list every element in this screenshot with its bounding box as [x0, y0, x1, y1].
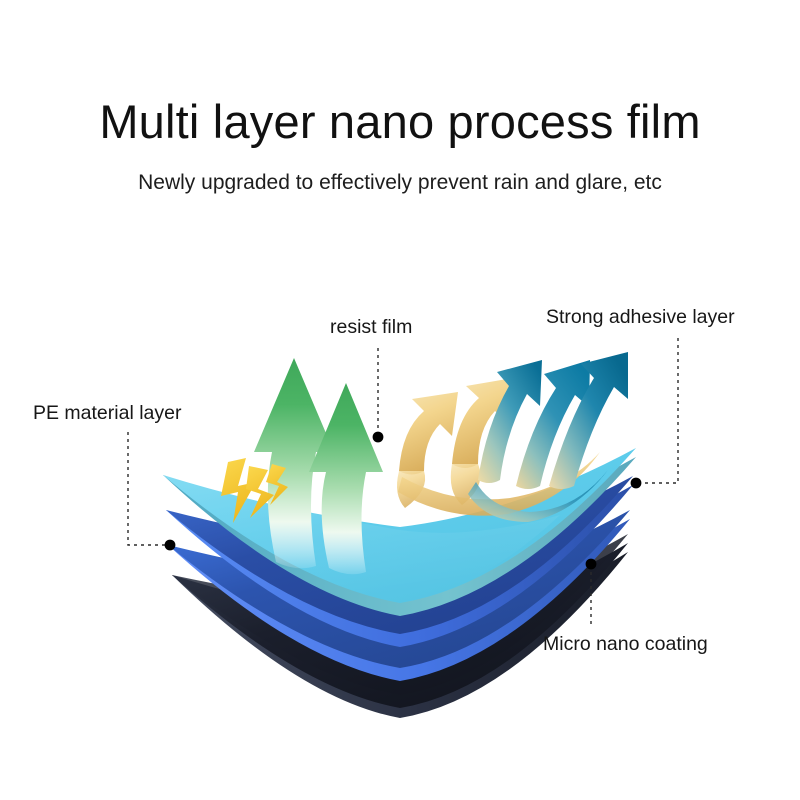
- callout-label-micro-nano-coating: Micro nano coating: [543, 632, 708, 656]
- anchor-dot-strong-adhesive: [631, 478, 642, 489]
- layer-stack-svg: [0, 0, 800, 800]
- callout-label-strong-adhesive-layer: Strong adhesive layer: [546, 305, 735, 329]
- callout-label-resist-film: resist film: [330, 315, 412, 339]
- anchor-dot-micro-nano-coating: [586, 559, 597, 570]
- leader-pe-material-layer: [128, 432, 170, 545]
- leader-strong-adhesive: [636, 338, 678, 483]
- callout-label-pe-material-layer: PE material layer: [33, 401, 181, 425]
- anchor-dot-pe-material-layer: [165, 540, 176, 551]
- multi-layer-film-diagram: [0, 0, 800, 800]
- anchor-dot-resist-film: [373, 432, 384, 443]
